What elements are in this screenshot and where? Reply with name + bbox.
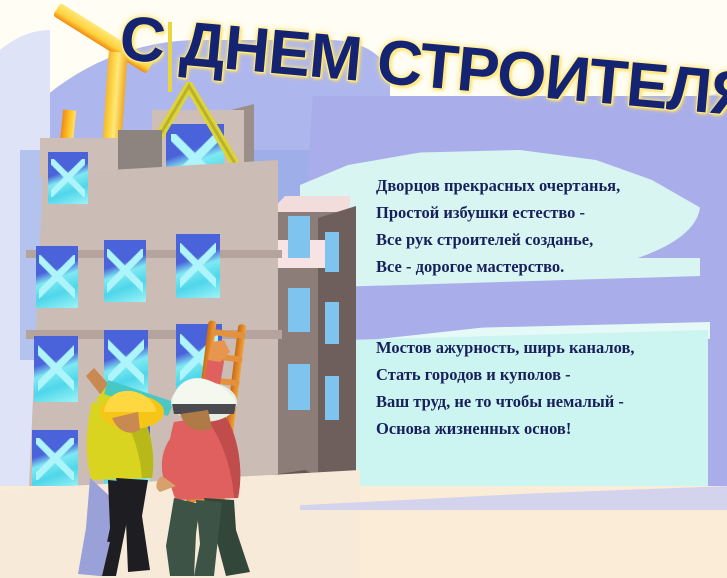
window (325, 376, 339, 420)
worker-red-jacket (146, 338, 286, 578)
greeting-card: С ДНЕМ СТРОИТЕЛЯ! Дворцов прекрасных оче… (0, 0, 727, 578)
poem-line: Стать городов и куполов - (376, 361, 635, 388)
window (104, 240, 146, 302)
poem-line: Простой избушки естество - (376, 199, 620, 226)
poem-line: Ваш труд, не то чтобы немалый - (376, 388, 635, 415)
window (325, 232, 339, 272)
window (48, 152, 88, 204)
poem-line: Мостов ажурность, ширь каналов, (376, 334, 635, 361)
poem-line: Дворцов прекрасных очертанья, (376, 172, 620, 199)
window (176, 234, 220, 298)
poem-line: Все рук строителей созданье, (376, 226, 620, 253)
window (288, 364, 310, 410)
window (288, 288, 310, 332)
window (288, 216, 310, 258)
window (325, 302, 339, 344)
window (36, 246, 78, 308)
poem-line: Все - дорогое мастерство. (376, 253, 620, 280)
poem-line: Основа жизненных основ! (376, 415, 635, 442)
poem-stanza-1: Дворцов прекрасных очертанья, Простой из… (376, 172, 620, 280)
poem-stanza-2: Мостов ажурность, ширь каналов, Стать го… (376, 334, 635, 442)
